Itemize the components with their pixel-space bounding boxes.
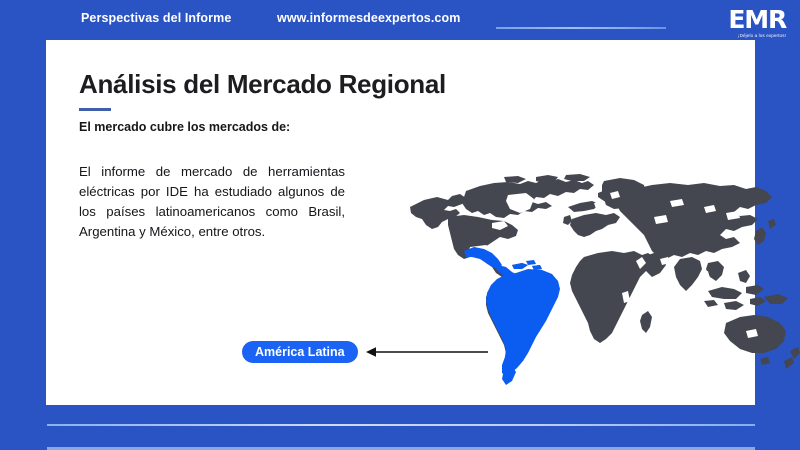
content-card: Análisis del Mercado Regional El mercado…	[46, 40, 755, 405]
title-accent-rule	[79, 108, 111, 111]
emr-logo-tagline: ¡Déjelo a los expertos!	[712, 32, 786, 39]
page-title: Análisis del Mercado Regional	[79, 69, 446, 100]
slide-canvas: Perspectivas del Informe www.informesdee…	[0, 0, 800, 450]
section-subtitle: El mercado cubre los mercados de:	[79, 120, 290, 134]
body-paragraph: El informe de mercado de herramientas el…	[79, 162, 345, 242]
header-divider-line	[496, 27, 666, 29]
header-perspectives-label: Perspectivas del Informe	[81, 11, 231, 25]
emr-logo[interactable]: EMR ¡Déjelo a los expertos!	[712, 8, 786, 42]
map-highlight-latin-america	[464, 247, 560, 385]
region-callout-label: América Latina	[255, 341, 345, 363]
map-landmass-base	[410, 174, 800, 373]
emr-logo-mark: EMR	[712, 8, 786, 32]
header-website-url[interactable]: www.informesdeexpertos.com	[277, 11, 460, 25]
footer-accent-line-1	[47, 424, 755, 426]
region-callout-pill[interactable]: América Latina	[242, 341, 358, 363]
slide-header: Perspectivas del Informe www.informesdee…	[0, 0, 800, 40]
world-map	[408, 173, 800, 393]
